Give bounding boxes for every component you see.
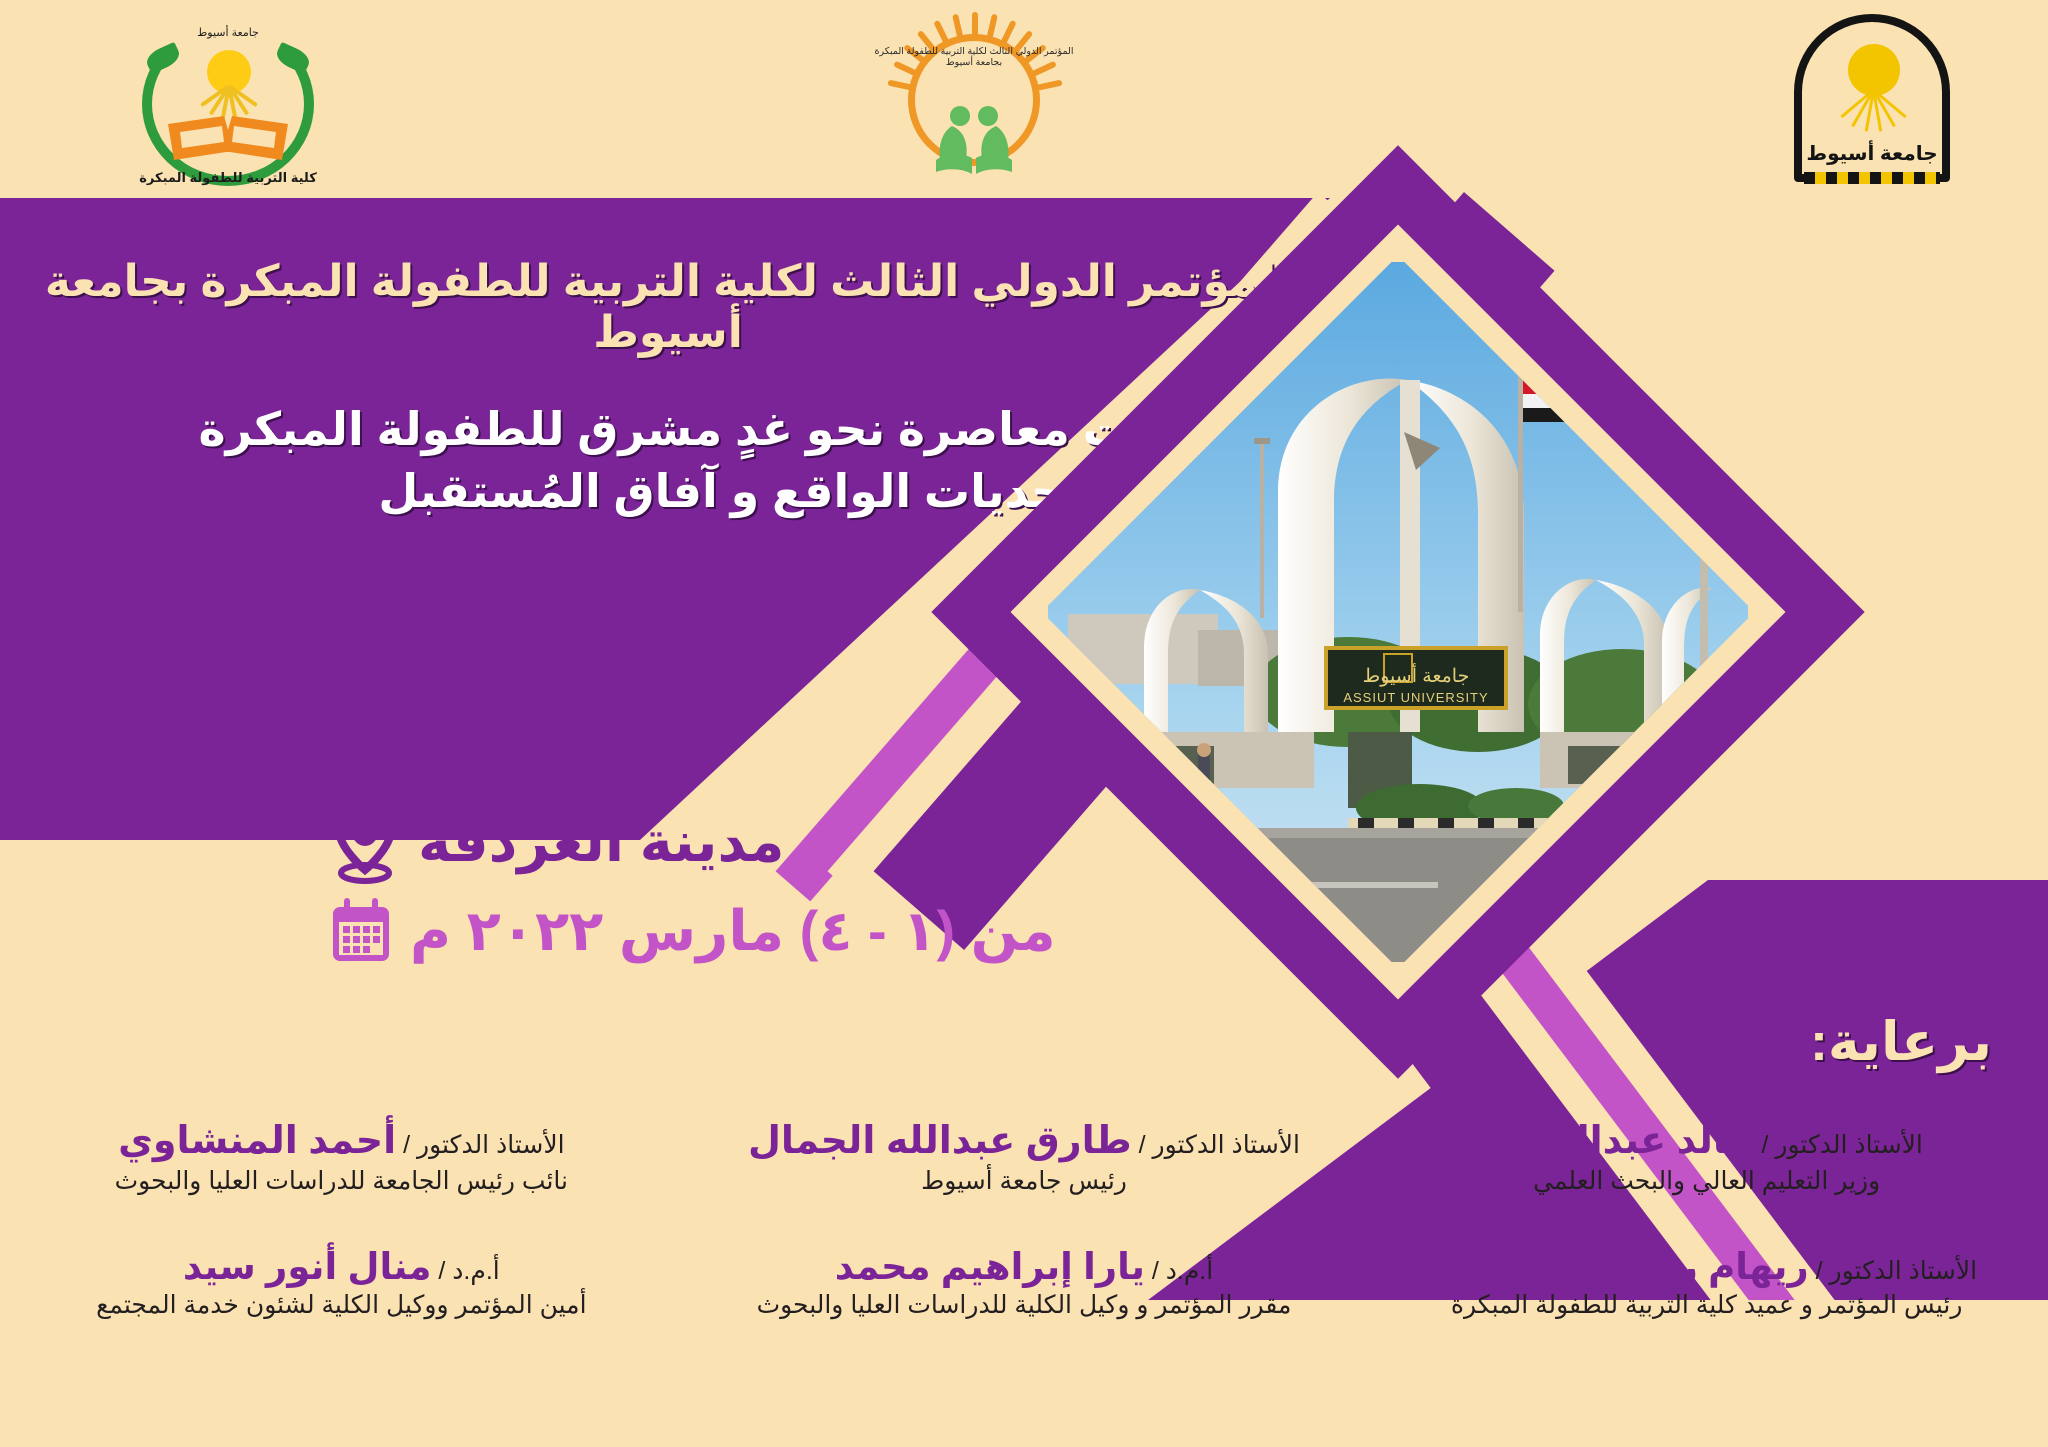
logo-base-stripe bbox=[1804, 172, 1940, 184]
svg-text:ASSIUT UNIVERSITY: ASSIUT UNIVERSITY bbox=[1343, 690, 1488, 705]
assiut-university-logo-text: جامعة أسيوط bbox=[1786, 144, 1958, 164]
patronage-label: برعاية: bbox=[1810, 1010, 1992, 1073]
person-name-line: الأستاذ الدكتور / أحمد المنشاوي bbox=[14, 1120, 669, 1164]
person-name: يارا إبراهيم محمد bbox=[835, 1246, 1145, 1287]
calendar-icon bbox=[330, 898, 392, 964]
person-name-line: الأستاذ الدكتور / طارق عبدالله الجمال bbox=[697, 1120, 1352, 1164]
person-prefix: الأستاذ الدكتور / bbox=[1809, 1257, 1977, 1285]
person-name: منال أنور سيد bbox=[183, 1246, 432, 1287]
venue-and-date: مدينة الغردقة من (١ - ٤) مارس ٢٠٢٢ م bbox=[0, 800, 1180, 964]
person-card: الأستاذ الدكتور / خالد عبدالغفار وزير ال… bbox=[1365, 1120, 2048, 1196]
open-book-icon bbox=[166, 116, 290, 162]
person-role: نائب رئيس الجامعة للدراسات العليا والبحو… bbox=[14, 1166, 669, 1196]
person-role: أمين المؤتمر ووكيل الكلية لشئون خدمة الم… bbox=[14, 1290, 669, 1320]
person-card: الأستاذ الدكتور / أحمد المنشاوي نائب رئي… bbox=[0, 1120, 683, 1196]
two-children-reading-icon bbox=[926, 102, 1022, 178]
person-prefix: أ.م.د / bbox=[1145, 1257, 1213, 1285]
person-name: طارق عبدالله الجمال bbox=[748, 1120, 1132, 1162]
person-card: أ.م.د / منال أنور سيد أمين المؤتمر ووكيل… bbox=[0, 1246, 683, 1321]
person-role: مقرر المؤتمر و وكيل الكلية للدراسات العل… bbox=[697, 1290, 1352, 1320]
logo-bar: جامعة أسيوط كلية التربية للطفولة المبكرة bbox=[0, 0, 2048, 200]
conference-poster: جامعة أسيوط كلية التربية للطفولة المبكرة bbox=[0, 0, 2048, 1447]
person-name: ريهام رفعت المليجي bbox=[1436, 1246, 1808, 1287]
person-prefix: الأستاذ الدكتور / bbox=[1755, 1131, 1923, 1159]
person-name-line: الأستاذ الدكتور / خالد عبدالغفار bbox=[1379, 1120, 2034, 1164]
person-card: الأستاذ الدكتور / طارق عبدالله الجمال رئ… bbox=[683, 1120, 1366, 1196]
person-card: أ.م.د / يارا إبراهيم محمد مقرر المؤتمر و… bbox=[683, 1246, 1366, 1321]
faculty-logo-bottom-text: كلية التربية للطفولة المبكرة bbox=[128, 170, 328, 186]
date-label: من (١ - ٤) مارس ٢٠٢٢ م bbox=[410, 898, 1056, 964]
person-name-line: أ.م.د / منال أنور سيد bbox=[14, 1246, 669, 1289]
person-name: أحمد المنشاوي bbox=[118, 1120, 396, 1162]
svg-text:جامعة أسيوط: جامعة أسيوط bbox=[1363, 662, 1470, 687]
assiut-university-logo: جامعة أسيوط bbox=[1786, 10, 1958, 190]
person-name-line: أ.م.د / يارا إبراهيم محمد bbox=[697, 1246, 1352, 1289]
person-prefix: الأستاذ الدكتور / bbox=[396, 1131, 564, 1159]
faculty-logo-top-text: جامعة أسيوط bbox=[128, 26, 328, 39]
people-row-2: الأستاذ الدكتور / ريهام رفعت المليجي رئي… bbox=[0, 1246, 2048, 1321]
person-prefix: أ.م.د / bbox=[431, 1257, 499, 1285]
people-row-1: الأستاذ الدكتور / خالد عبدالغفار وزير ال… bbox=[0, 1120, 2048, 1196]
patronage-people: الأستاذ الدكتور / خالد عبدالغفار وزير ال… bbox=[0, 1120, 2048, 1320]
person-role: رئيس المؤتمر و عميد كلية التربية للطفولة… bbox=[1379, 1290, 2034, 1320]
venue-row: مدينة الغردقة bbox=[0, 800, 1180, 884]
date-row: من (١ - ٤) مارس ٢٠٢٢ م bbox=[0, 898, 1180, 964]
person-role: رئيس جامعة أسيوط bbox=[697, 1166, 1352, 1196]
person-role: وزير التعليم العالي والبحث العلمي bbox=[1379, 1166, 2034, 1196]
person-name-line: الأستاذ الدكتور / ريهام رفعت المليجي bbox=[1379, 1246, 2034, 1289]
conference-sunburst-logo: المؤتمر الدولي الثالث لكلية التربية للطف… bbox=[874, 6, 1074, 196]
venue-label: مدينة الغردقة bbox=[418, 809, 784, 875]
person-card: الأستاذ الدكتور / ريهام رفعت المليجي رئي… bbox=[1365, 1246, 2048, 1321]
person-prefix: الأستاذ الدكتور / bbox=[1132, 1131, 1300, 1159]
person-name: خالد عبدالغفار bbox=[1490, 1120, 1754, 1162]
conference-logo-arc-text: المؤتمر الدولي الثالث لكلية التربية للطف… bbox=[874, 46, 1074, 68]
faculty-of-early-childhood-education-logo: جامعة أسيوط كلية التربية للطفولة المبكرة bbox=[128, 12, 328, 192]
location-pin-icon bbox=[330, 800, 400, 884]
